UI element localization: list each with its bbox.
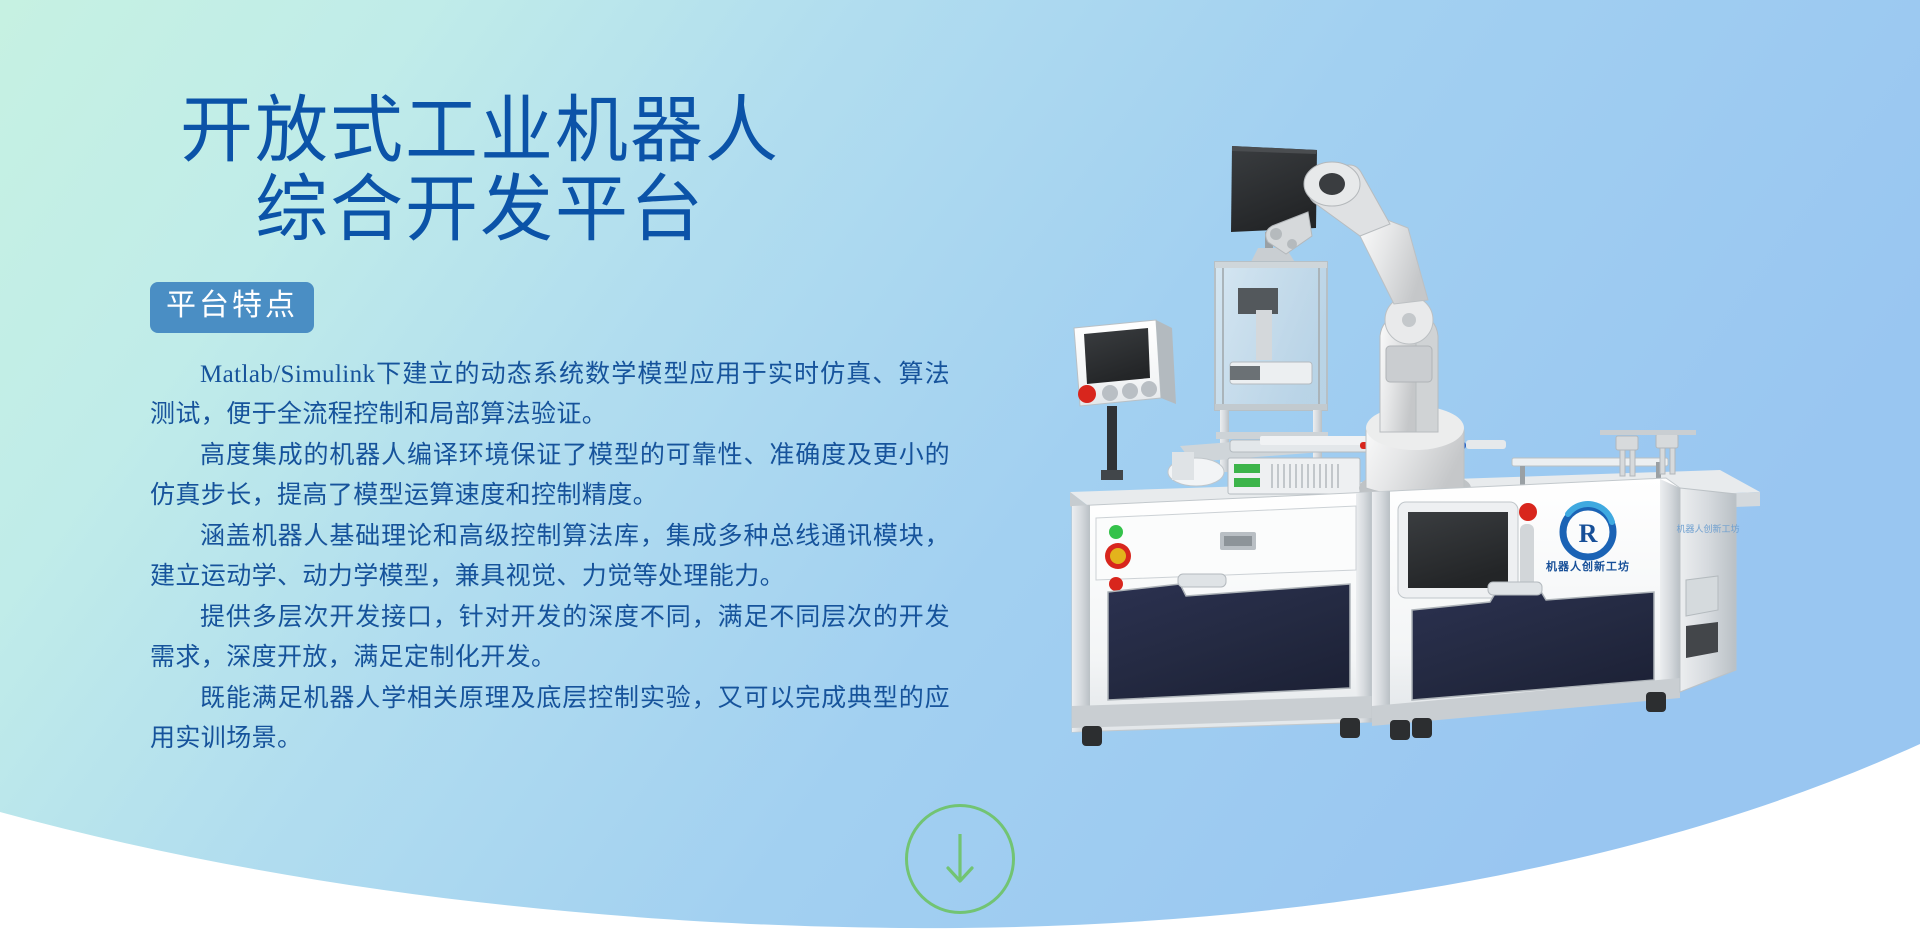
scroll-down-button[interactable] xyxy=(905,804,1015,914)
feature-description-list: Matlab/Simulink下建立的动态系统数学模型应用于实时仿真、算法测试，… xyxy=(150,355,950,760)
feature-paragraph-1: Matlab/Simulink下建立的动态系统数学模型应用于实时仿真、算法测试，… xyxy=(150,355,950,436)
page-title-line2: 综合开发平台 xyxy=(150,171,980,250)
hero-text-column: 开放式工业机器人 综合开发平台 平台特点 Matlab/Simulink下建立的… xyxy=(150,92,980,760)
estop-icon xyxy=(1078,385,1096,403)
feature-paragraph-5: 既能满足机器人学相关原理及底层控制实验，又可以完成典型的应用实训场景。 xyxy=(150,679,950,760)
feature-paragraph-3: 涵盖机器人基础理论和高级控制算法库，集成多种总线通讯模块，建立运动学、动力学模型… xyxy=(150,517,950,598)
status-indicator-green xyxy=(1109,525,1123,539)
page-title: 开放式工业机器人 综合开发平台 xyxy=(150,92,980,250)
caster-wheel xyxy=(1412,718,1432,738)
svg-text:R: R xyxy=(1579,519,1598,548)
brand-logo-text: 机器人创新工坊 xyxy=(1546,559,1630,573)
caster-wheel xyxy=(1340,718,1360,738)
hmi-control-panel xyxy=(1074,320,1176,480)
cabinet-right: R 机器人创新工坊 xyxy=(1372,478,1680,740)
feature-paragraph-2: 高度集成的机器人编译环境保证了模型的可靠性、准确度及更小的仿真步长，提高了模型运… xyxy=(150,436,950,517)
arrow-down-icon xyxy=(940,830,980,888)
cabinet-side-panel: 机器人创新工坊 xyxy=(1676,488,1739,692)
product-photo: R 机器人创新工坊 机器人创新工坊 xyxy=(1060,140,1760,780)
feature-paragraph-4: 提供多层次开发接口，针对开发的深度不同，满足不同层次的开发需求，深度开放，满足定… xyxy=(150,598,950,679)
caster-wheel xyxy=(1646,692,1666,712)
page-title-line1: 开放式工业机器人 xyxy=(150,92,980,171)
status-indicator-red xyxy=(1109,577,1123,591)
status-badge: 平台特点 xyxy=(150,282,314,333)
cabinet-left xyxy=(1072,492,1372,746)
hero-banner: 开放式工业机器人 综合开发平台 平台特点 Matlab/Simulink下建立的… xyxy=(0,0,1920,937)
caster-wheel xyxy=(1390,720,1410,740)
estop-icon xyxy=(1519,503,1537,521)
side-panel-label: 机器人创新工坊 xyxy=(1676,523,1739,534)
machine-illustration: R 机器人创新工坊 机器人创新工坊 xyxy=(1060,140,1760,780)
caster-wheel xyxy=(1082,726,1102,746)
